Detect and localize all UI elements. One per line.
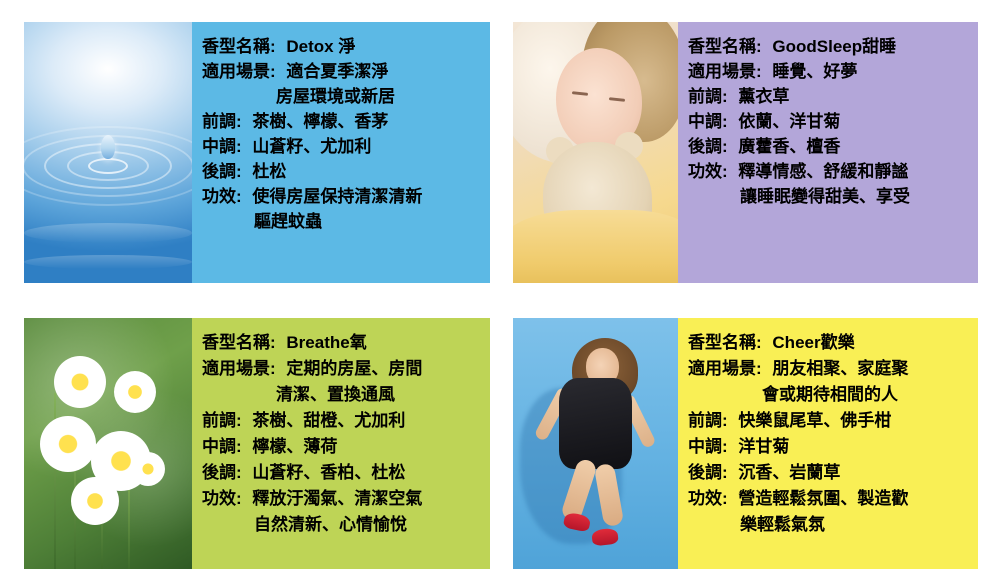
scent-scene-row-2: 清潔、置換通風	[202, 382, 484, 408]
scent-effect-value-2: 讓睡眠變得甜美、享受	[740, 187, 910, 206]
scent-top-note-label: 前調:	[688, 87, 728, 106]
scent-base-note-row: 後調: 山蒼籽、香柏、杜松	[202, 460, 484, 486]
scent-base-note-row: 後調: 廣藿香、檀香	[688, 134, 972, 159]
scent-top-note-row: 前調: 茶樹、檸檬、香茅	[202, 109, 484, 134]
sleeping-child-teddy-photo	[513, 22, 678, 283]
scent-name-label: 香型名稱:	[688, 333, 762, 352]
scent-name-row: 香型名稱: GoodSleep甜睡	[688, 34, 972, 59]
scent-name-value: Cheer歡樂	[772, 333, 854, 352]
scent-top-note-row: 前調: 快樂鼠尾草、佛手柑	[688, 408, 972, 434]
scent-scene-label: 適用場景:	[688, 359, 762, 378]
scent-scene-row: 適用場景: 適合夏季潔淨	[202, 59, 484, 84]
scent-top-note-value: 快樂鼠尾草、佛手柑	[738, 411, 891, 430]
scent-scene-value-2: 清潔、置換通風	[276, 385, 395, 404]
scent-effect-value: 使得房屋保持清潔清新	[252, 187, 422, 206]
scent-middle-note-value: 檸檬、薄荷	[252, 437, 337, 456]
scent-scene-value-2: 房屋環境或新居	[276, 87, 395, 106]
scent-middle-note-label: 中調:	[688, 112, 728, 131]
scent-top-note-value: 茶樹、甜橙、尤加利	[252, 411, 405, 430]
scent-card-cheer[interactable]: 香型名稱: Cheer歡樂 適用場景: 朋友相聚、家庭聚 會或期待相間的人 前調…	[513, 318, 978, 569]
jumping-woman-photo	[513, 318, 678, 569]
scent-base-note-row: 後調: 杜松	[202, 159, 484, 184]
scent-scene-label: 適用場景:	[688, 62, 762, 81]
daisy-field-photo	[24, 318, 192, 569]
scent-name-row: 香型名稱: Detox 淨	[202, 34, 484, 59]
scent-middle-note-label: 中調:	[688, 437, 728, 456]
scent-effect-value-2: 自然清新、心情愉悅	[254, 515, 407, 534]
scent-scene-label: 適用場景:	[202, 359, 276, 378]
scent-effect-row-2: 讓睡眠變得甜美、享受	[688, 184, 972, 209]
scent-effect-label: 功效:	[202, 187, 242, 206]
scent-scene-row: 適用場景: 朋友相聚、家庭聚	[688, 356, 972, 382]
scent-cards-board: 香型名稱: Detox 淨 適用場景: 適合夏季潔淨 房屋環境或新居 前調: 茶…	[0, 0, 1000, 587]
scent-middle-note-value: 山蒼籽、尤加利	[252, 137, 371, 156]
scent-base-note-row: 後調: 沉香、岩蘭草	[688, 460, 972, 486]
scent-effect-row-2: 驅趕蚊蟲	[202, 209, 484, 234]
scent-top-note-label: 前調:	[202, 411, 242, 430]
scent-name-row: 香型名稱: Cheer歡樂	[688, 330, 972, 356]
scent-middle-note-row: 中調: 洋甘菊	[688, 434, 972, 460]
scent-scene-row: 適用場景: 睡覺、好夢	[688, 59, 972, 84]
scent-middle-note-value: 洋甘菊	[738, 437, 789, 456]
scent-scene-row-2: 會或期待相間的人	[688, 382, 972, 408]
scent-scene-value: 適合夏季潔淨	[286, 62, 388, 81]
scent-middle-note-row: 中調: 山蒼籽、尤加利	[202, 134, 484, 159]
scent-middle-note-label: 中調:	[202, 437, 242, 456]
scent-base-note-label: 後調:	[202, 162, 242, 181]
scent-card-breathe-panel: 香型名稱: Breathe氧 適用場景: 定期的房屋、房間 清潔、置換通風 前調…	[192, 318, 490, 569]
scent-name-value: Detox 淨	[286, 37, 355, 56]
scent-effect-row: 功效: 釋導情感、舒緩和靜謐	[688, 159, 972, 184]
scent-effect-label: 功效:	[688, 489, 728, 508]
scent-middle-note-label: 中調:	[202, 137, 242, 156]
scent-scene-row: 適用場景: 定期的房屋、房間	[202, 356, 484, 382]
scent-card-goodsleep-panel: 香型名稱: GoodSleep甜睡 適用場景: 睡覺、好夢 前調: 薰衣草 中調…	[678, 22, 978, 283]
water-drop-ripple-photo	[24, 22, 192, 283]
scent-effect-value: 釋導情感、舒緩和靜謐	[738, 162, 908, 181]
scent-name-value: Breathe氧	[286, 333, 366, 352]
scent-base-note-label: 後調:	[688, 137, 728, 156]
scent-middle-note-value: 依蘭、洋甘菊	[738, 112, 840, 131]
scent-effect-row: 功效: 使得房屋保持清潔清新	[202, 184, 484, 209]
scent-effect-value: 營造輕鬆氛圍、製造歡	[738, 489, 908, 508]
scent-base-note-value: 廣藿香、檀香	[738, 137, 840, 156]
scent-name-row: 香型名稱: Breathe氧	[202, 330, 484, 356]
scent-middle-note-row: 中調: 檸檬、薄荷	[202, 434, 484, 460]
scent-scene-value: 定期的房屋、房間	[286, 359, 422, 378]
scent-effect-label: 功效:	[688, 162, 728, 181]
scent-scene-value-2: 會或期待相間的人	[762, 385, 898, 404]
scent-name-label: 香型名稱:	[202, 333, 276, 352]
scent-effect-row: 功效: 營造輕鬆氛圍、製造歡	[688, 486, 972, 512]
scent-card-detox[interactable]: 香型名稱: Detox 淨 適用場景: 適合夏季潔淨 房屋環境或新居 前調: 茶…	[24, 22, 490, 283]
scent-effect-value: 釋放汙濁氣、清潔空氣	[252, 489, 422, 508]
scent-top-note-label: 前調:	[202, 112, 242, 131]
scent-base-note-label: 後調:	[688, 463, 728, 482]
scent-top-note-value: 茶樹、檸檬、香茅	[252, 112, 388, 131]
scent-effect-label: 功效:	[202, 489, 242, 508]
scent-card-detox-panel: 香型名稱: Detox 淨 適用場景: 適合夏季潔淨 房屋環境或新居 前調: 茶…	[192, 22, 490, 283]
scent-scene-row-2: 房屋環境或新居	[202, 84, 484, 109]
scent-effect-row-2: 自然清新、心情愉悅	[202, 512, 484, 538]
scent-card-cheer-panel: 香型名稱: Cheer歡樂 適用場景: 朋友相聚、家庭聚 會或期待相間的人 前調…	[678, 318, 978, 569]
scent-middle-note-row: 中調: 依蘭、洋甘菊	[688, 109, 972, 134]
scent-name-value: GoodSleep甜睡	[772, 37, 896, 56]
scent-name-label: 香型名稱:	[688, 37, 762, 56]
scent-scene-label: 適用場景:	[202, 62, 276, 81]
scent-effect-value-2: 樂輕鬆氣氛	[740, 515, 825, 534]
scent-card-goodsleep[interactable]: 香型名稱: GoodSleep甜睡 適用場景: 睡覺、好夢 前調: 薰衣草 中調…	[513, 22, 978, 283]
scent-base-note-value: 山蒼籽、香柏、杜松	[252, 463, 405, 482]
scent-name-label: 香型名稱:	[202, 37, 276, 56]
scent-effect-row: 功效: 釋放汙濁氣、清潔空氣	[202, 486, 484, 512]
scent-card-breathe[interactable]: 香型名稱: Breathe氧 適用場景: 定期的房屋、房間 清潔、置換通風 前調…	[24, 318, 490, 569]
scent-effect-row-2: 樂輕鬆氣氛	[688, 512, 972, 538]
scent-base-note-label: 後調:	[202, 463, 242, 482]
scent-top-note-value: 薰衣草	[738, 87, 789, 106]
scent-top-note-row: 前調: 薰衣草	[688, 84, 972, 109]
scent-top-note-row: 前調: 茶樹、甜橙、尤加利	[202, 408, 484, 434]
scent-base-note-value: 沉香、岩蘭草	[738, 463, 840, 482]
scent-scene-value: 睡覺、好夢	[772, 62, 857, 81]
scent-top-note-label: 前調:	[688, 411, 728, 430]
scent-base-note-value: 杜松	[252, 162, 286, 181]
scent-scene-value: 朋友相聚、家庭聚	[772, 359, 908, 378]
scent-effect-value-2: 驅趕蚊蟲	[254, 212, 322, 231]
